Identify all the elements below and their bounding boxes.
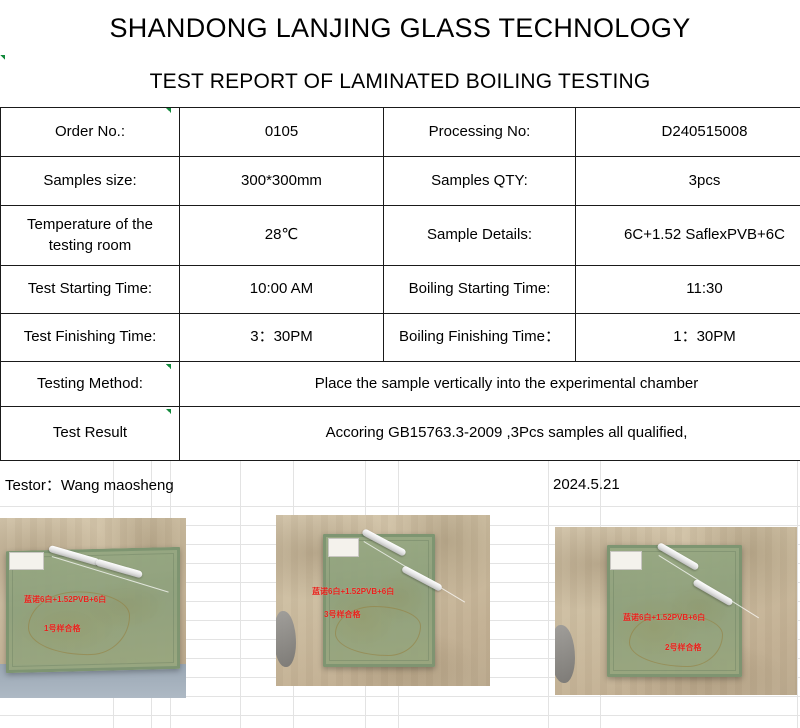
cell-comment-marker-icon — [166, 364, 171, 369]
order-no-label: Order No.: — [1, 108, 180, 157]
samples-size-value: 300*300mm — [180, 157, 384, 206]
cell-comment-marker-icon — [166, 409, 171, 414]
boiling-finish-label: Boiling Finishing Time： — [384, 314, 576, 362]
table-row: Testing Method: Place the sample vertica… — [1, 362, 800, 407]
testing-method-label: Testing Method: — [1, 362, 180, 407]
sample-label-tag — [328, 538, 359, 557]
boiling-start-label: Boiling Starting Time: — [384, 266, 576, 314]
spec-annotation: 蓝诺6白+1.52PVB+6白 — [623, 612, 705, 623]
boiling-start-value: 11:30 — [576, 266, 800, 314]
test-start-value: 10:00 AM — [180, 266, 384, 314]
pass-annotation: 1号样合格 — [44, 623, 80, 634]
table-row: Test Finishing Time: 3：30PM Boiling Fini… — [1, 314, 800, 362]
processing-no-label: Processing No: — [384, 108, 576, 157]
pass-annotation: 2号样合格 — [665, 642, 701, 653]
table-row: Temperature of the testing room 28℃ Samp… — [1, 206, 800, 266]
table-row: Samples size: 300*300mm Samples QTY: 3pc… — [1, 157, 800, 206]
table-row: Test Starting Time: 10:00 AM Boiling Sta… — [1, 266, 800, 314]
sample-photo-2: 蓝诺6白+1.52PVB+6白 3号样合格 — [276, 515, 490, 686]
table-row: Order No.: 0105 Processing No: D24051500… — [1, 108, 800, 157]
test-result-label: Test Result — [1, 407, 180, 461]
company-title-text: SHANDONG LANJING GLASS TECHNOLOGY — [109, 13, 690, 44]
test-finish-value: 3：30PM — [180, 314, 384, 362]
pass-annotation: 3号样合格 — [324, 609, 360, 620]
grid-hline — [0, 715, 800, 716]
spec-annotation: 蓝诺6白+1.52PVB+6白 — [24, 594, 106, 605]
test-start-label: Test Starting Time: — [1, 266, 180, 314]
sample-details-value: 6C+1.52 SaflexPVB+6C — [576, 206, 800, 266]
samples-qty-label: Samples QTY: — [384, 157, 576, 206]
testor-name: Testor：Wang maosheng — [5, 462, 174, 506]
grid-hline — [0, 506, 800, 507]
testing-method-value: Place the sample vertically into the exp… — [180, 362, 800, 407]
cell-comment-marker-icon — [166, 108, 171, 113]
samples-qty-value: 3pcs — [576, 157, 800, 206]
order-no-value: 0105 — [180, 108, 384, 157]
samples-size-label: Samples size: — [1, 157, 180, 206]
spec-annotation: 蓝诺6白+1.52PVB+6白 — [312, 586, 394, 597]
sample-label-tag — [610, 551, 642, 570]
room-temperature-value: 28℃ — [180, 206, 384, 266]
processing-no-value: D240515008 — [576, 108, 800, 157]
report-title-text: TEST REPORT OF LAMINATED BOILING TESTING — [150, 70, 651, 94]
room-temperature-label: Temperature of the testing room — [1, 206, 180, 266]
signature-row: Testor：Wang maosheng 2024.5.21 — [0, 462, 800, 506]
sample-details-label: Sample Details: — [384, 206, 576, 266]
cell-comment-marker-icon — [0, 55, 5, 60]
report-title: TEST REPORT OF LAMINATED BOILING TESTING — [0, 57, 800, 107]
sample-photo-3: 蓝诺6白+1.52PVB+6白 2号样合格 — [555, 527, 797, 695]
sample-label-tag — [9, 552, 44, 570]
test-result-value: Accoring GB15763.3-2009 ,3Pcs samples al… — [180, 407, 800, 461]
company-title: SHANDONG LANJING GLASS TECHNOLOGY — [0, 0, 800, 57]
table-row: Test Result Accoring GB15763.3-2009 ,3Pc… — [1, 407, 800, 461]
spreadsheet-canvas: SHANDONG LANJING GLASS TECHNOLOGY TEST R… — [0, 0, 800, 728]
report-date: 2024.5.21 — [553, 462, 620, 506]
test-finish-label: Test Finishing Time: — [1, 314, 180, 362]
boiling-finish-value: 1：30PM — [576, 314, 800, 362]
sample-photo-1: 蓝诺6白+1.52PVB+6白 1号样合格 — [0, 518, 186, 698]
test-report-table: Order No.: 0105 Processing No: D24051500… — [0, 107, 800, 461]
